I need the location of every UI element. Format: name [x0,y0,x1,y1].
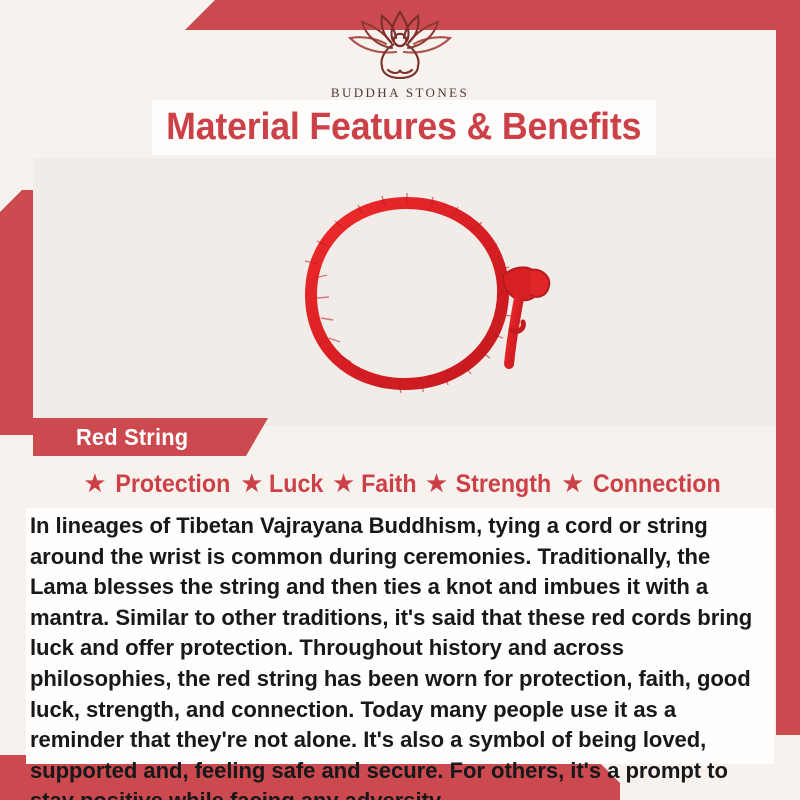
decor-bar-right [776,0,800,735]
feature-item-protection: ★ Protection [83,470,234,499]
description-text: In lineages of Tibetan Vajrayana Buddhis… [26,508,763,800]
feature-label: Connection [593,470,721,499]
lotus-meditation-icon [336,8,464,82]
brand-logo: BUDDHA STONES [0,8,800,101]
decor-bar-left [0,190,33,435]
feature-label: Faith [361,470,417,499]
description-card: In lineages of Tibetan Vajrayana Buddhis… [26,508,774,764]
feature-item-connection: ★ Connection [561,470,726,499]
material-ribbon-label: Red String [76,424,188,451]
page-title: Material Features & Benefits [166,106,641,149]
star-icon: ★ [425,470,448,496]
feature-label: Strength [456,470,552,499]
feature-list: ★ Protection ★ Luck ★ Faith ★ Strength ★… [33,462,776,506]
star-icon: ★ [83,470,106,496]
star-icon: ★ [561,470,584,496]
feature-label: Protection [115,470,230,499]
star-icon: ★ [332,470,355,496]
star-icon: ★ [240,470,263,496]
material-ribbon: Red String [33,418,268,456]
feature-item-luck: ★ Luck [240,470,326,499]
title-band: Material Features & Benefits [152,100,656,155]
brand-name: BUDDHA STONES [331,85,469,101]
feature-item-strength: ★ Strength [425,470,555,499]
product-image [33,158,776,426]
feature-item-faith: ★ Faith [332,470,419,499]
poster-canvas: BUDDHA STONES Material Features & Benefi… [0,0,800,800]
feature-label: Luck [270,470,324,499]
